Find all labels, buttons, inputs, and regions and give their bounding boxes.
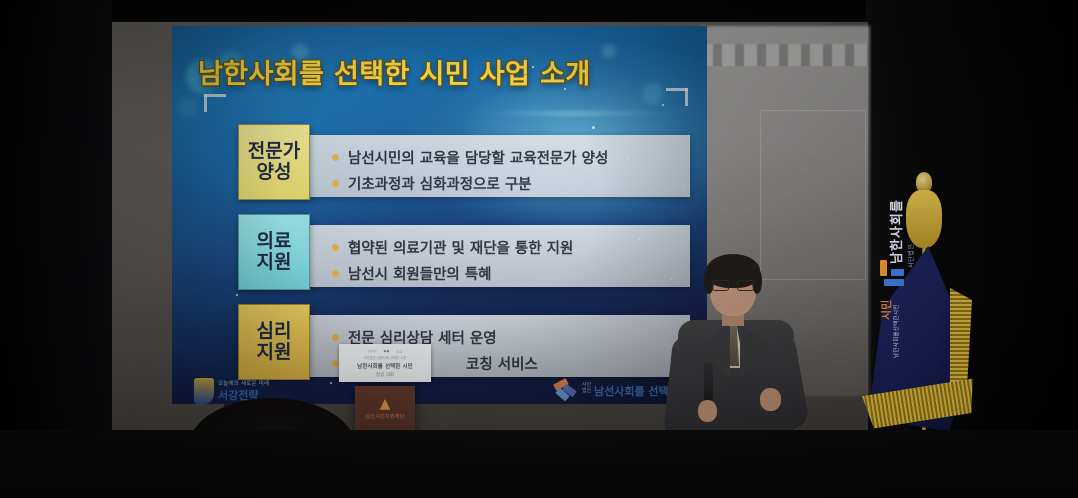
floor [0, 430, 1078, 498]
presentation-photo-scene: 남한사회를 선택한 시민 사업 소개 남선시민의 교육을 담당할 교육전문가 양… [0, 0, 1078, 498]
podium-sign-logo-3: △△ [396, 349, 402, 353]
podium-sign: ◇◇◇ ◆◆ △△ 사단법인 남한사회 선택한 시민 남한사회를 선택한 시민 … [339, 344, 431, 382]
podium-sign-line-main: 남한사회를 선택한 시민 [357, 362, 413, 370]
podium-sign-logo-2: ◆◆ [384, 349, 390, 353]
podium-emblem-icon: ▲ [374, 399, 396, 410]
podium-sign-logo-1: ◇◇◇ [368, 349, 377, 353]
presenter-hand-left [698, 400, 717, 422]
wall-left [0, 0, 112, 498]
podium-sign-line-sub: 창립 대회 [376, 372, 394, 378]
flag-bottom-text: 남한사회를선택한시민 [892, 304, 900, 358]
presenter-glasses-icon [712, 280, 754, 291]
screen-text-blur [700, 44, 868, 66]
flag-tassel [906, 190, 942, 248]
podium-sign-logos: ◇◇◇ ◆◆ △△ [368, 349, 403, 353]
presentation-slide: 남한사회를 선택한 시민 사업 소개 남선시민의 교육을 담당할 교육전문가 양… [172, 26, 707, 404]
slide-vignette [172, 26, 707, 404]
podium-sign-line-top: 사단법인 남한사회 선택한 시민 [364, 355, 407, 360]
podium-caption: 남선시민지원재단 [365, 413, 404, 420]
presenter-hand-right [760, 388, 781, 411]
flag-finial-icon [916, 172, 932, 192]
flag-sub-text: 사단법인 [906, 244, 915, 268]
flag-main-text: 남한사회를 [886, 199, 905, 264]
